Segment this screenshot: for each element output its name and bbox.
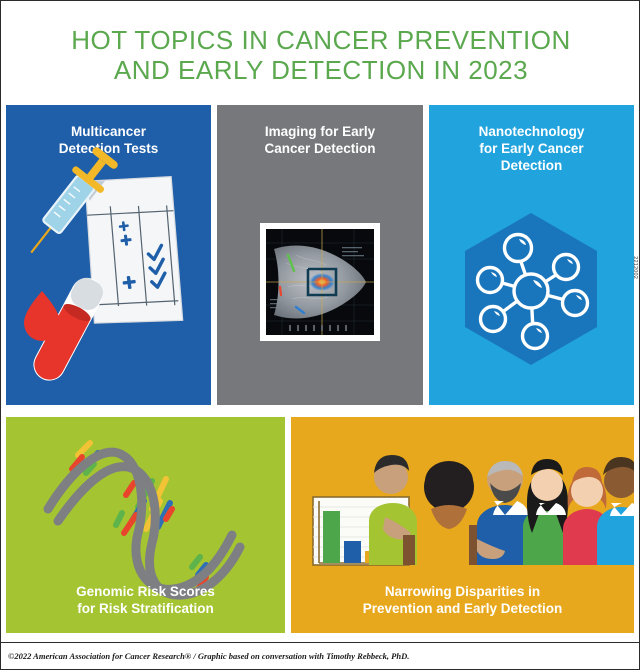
panel-title-line-1: Genomic Risk Scores bbox=[14, 583, 277, 600]
panel-title-line-2: Cancer Detection bbox=[225, 140, 415, 157]
panel-title-line-2: Prevention and Early Detection bbox=[299, 600, 626, 617]
panel-title-genomic-risk-scores: Genomic Risk Scores for Risk Stratificat… bbox=[6, 583, 285, 617]
panel-multicancer-detection-tests[interactable]: Multicancer Detection Tests bbox=[6, 105, 211, 405]
panel-title-line-1: Narrowing Disparities in bbox=[299, 583, 626, 600]
graphic-id-code: 2212002 bbox=[632, 256, 638, 279]
page-title: HOT TOPICS IN CANCER PREVENTION AND EARL… bbox=[1, 25, 640, 85]
panel-imaging-for-early-cancer-detection[interactable]: Imaging for Early Cancer Detection bbox=[217, 105, 423, 405]
page-title-line-1: HOT TOPICS IN CANCER PREVENTION bbox=[1, 25, 640, 55]
mammogram-scan-photo-icon bbox=[260, 223, 380, 341]
footer-credit: ©2022 American Association for Cancer Re… bbox=[8, 651, 409, 661]
page-title-line-2: AND EARLY DETECTION IN 2023 bbox=[1, 55, 640, 85]
panel-title-imaging: Imaging for Early Cancer Detection bbox=[217, 123, 423, 157]
syringe-blood-vial-lab-report-icon bbox=[6, 105, 211, 405]
infographic-canvas: HOT TOPICS IN CANCER PREVENTION AND EARL… bbox=[0, 0, 640, 670]
panel-nanotechnology-for-early-cancer-detection[interactable]: Nanotechnology for Early Cancer Detectio… bbox=[429, 105, 634, 405]
person-6 bbox=[597, 457, 634, 565]
panel-genomic-risk-scores[interactable]: Genomic Risk Scores for Risk Stratificat… bbox=[6, 417, 285, 633]
person-2 bbox=[424, 461, 474, 529]
nanoparticle-molecule-hexagon-icon bbox=[429, 105, 634, 405]
panel-narrowing-disparities[interactable]: Narrowing Disparities in Prevention and … bbox=[291, 417, 634, 633]
panel-title-line-1: Imaging for Early bbox=[225, 123, 415, 140]
panel-title-narrowing-disparities: Narrowing Disparities in Prevention and … bbox=[291, 583, 634, 617]
person-1 bbox=[369, 455, 417, 565]
footer-divider bbox=[1, 642, 640, 643]
panel-title-line-2: for Risk Stratification bbox=[14, 600, 277, 617]
